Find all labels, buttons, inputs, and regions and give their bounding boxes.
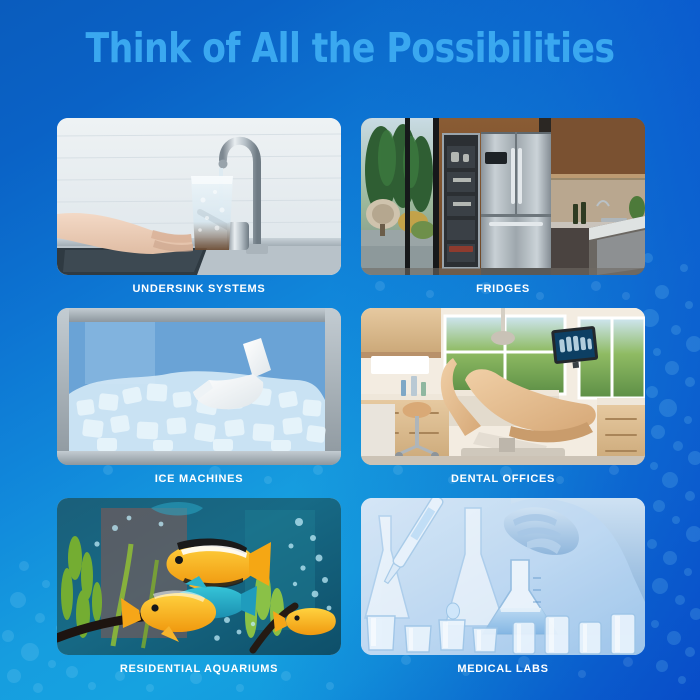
card-image-fridges [361,118,645,275]
category-card-medical-labs[interactable]: MEDICAL LABS [361,498,645,676]
category-grid: UNDERSINK SYSTEMS [57,118,645,676]
card-image-aquarium [57,498,341,655]
card-caption: FRIDGES [361,282,645,296]
card-image-lab [361,498,645,655]
card-caption: ICE MACHINES [57,472,341,486]
poster-canvas: Think of All the Possibilities [0,0,700,700]
card-caption: RESIDENTIAL AQUARIUMS [57,662,341,676]
card-image-undersink [57,118,341,275]
card-image-dental [361,308,645,465]
card-caption: UNDERSINK SYSTEMS [57,282,341,296]
category-card-dental-offices[interactable]: DENTAL OFFICES [361,308,645,486]
card-caption: DENTAL OFFICES [361,472,645,486]
category-card-undersink-systems[interactable]: UNDERSINK SYSTEMS [57,118,341,296]
category-card-residential-aquariums[interactable]: RESIDENTIAL AQUARIUMS [57,498,341,676]
category-card-fridges[interactable]: FRIDGES [361,118,645,296]
card-image-ice [57,308,341,465]
card-caption: MEDICAL LABS [361,662,645,676]
page-title: Think of All the Possibilities [21,28,679,69]
category-card-ice-machines[interactable]: ICE MACHINES [57,308,341,486]
